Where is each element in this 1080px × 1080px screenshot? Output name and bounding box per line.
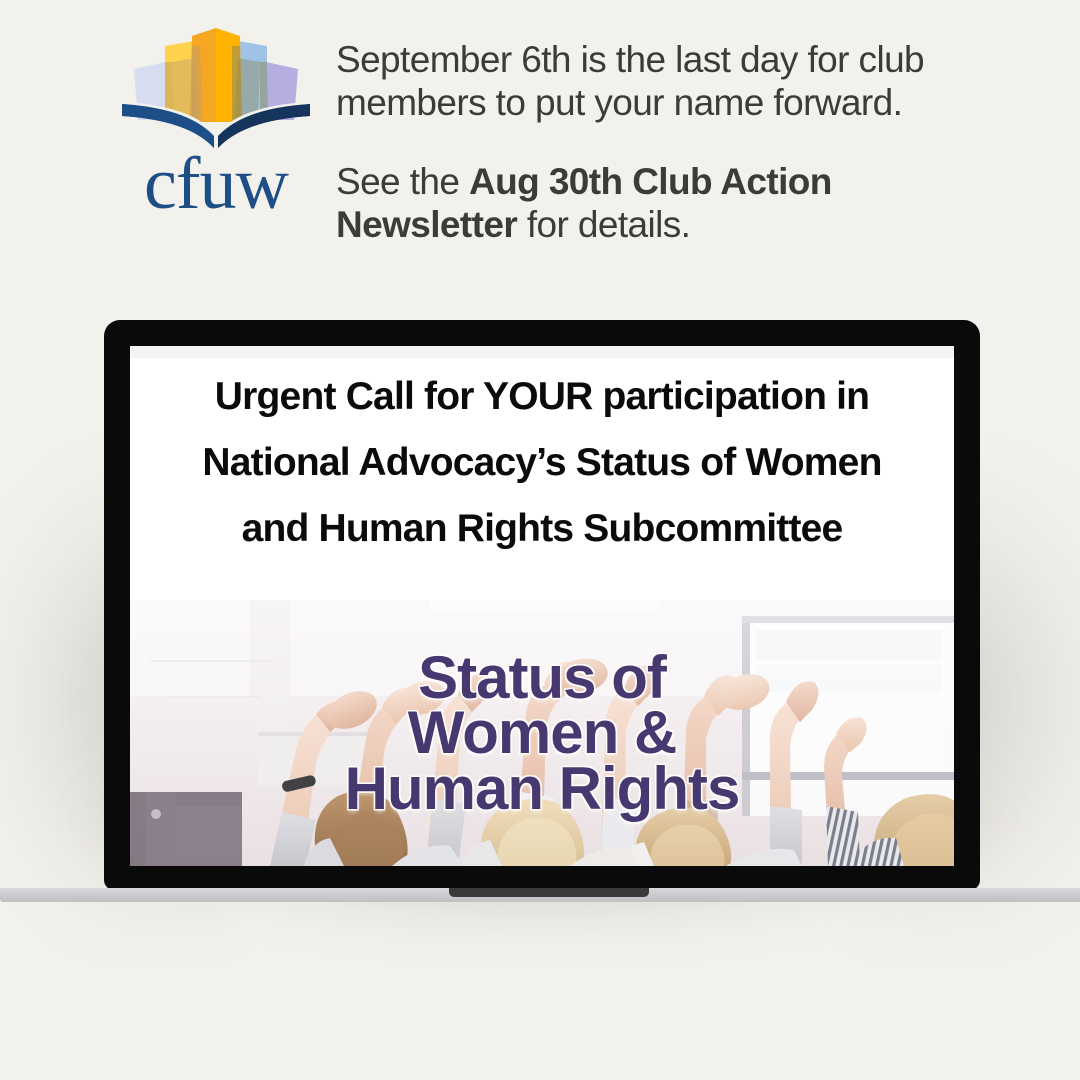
cfuw-open-book-fan-logo — [118, 24, 314, 149]
headline-line-4: Newsletter for details. — [336, 203, 956, 246]
laptop-bezel: Urgent Call for YOUR participation in Na… — [104, 320, 980, 890]
screen-top-strip — [130, 346, 954, 358]
laptop-mockup: Urgent Call for YOUR participation in Na… — [104, 320, 980, 905]
laptop-screen: Urgent Call for YOUR participation in Na… — [130, 346, 954, 866]
screen-photo: Status of Women & Human Rights — [130, 600, 954, 866]
headline-line-1: September 6th is the last day for club — [336, 38, 956, 81]
headline-block: September 6th is the last day for club m… — [336, 38, 956, 246]
laptop-base-notch — [449, 888, 649, 897]
screen-title-line-2: National Advocacy’s Status of Women — [144, 430, 940, 496]
photo-overlay-text: Status of Women & Human Rights — [130, 600, 954, 866]
header-banner: cfuw September 6th is the last day for c… — [0, 0, 1080, 300]
newsletter-name-part2: Newsletter — [336, 204, 517, 245]
cfuw-logo: cfuw — [118, 24, 314, 224]
cfuw-wordmark: cfuw — [118, 142, 314, 226]
screen-title-line-1: Urgent Call for YOUR participation in — [144, 364, 940, 430]
headline-deadline: September 6th is the last day for club m… — [336, 38, 956, 124]
overlay-line-2: Women & — [408, 703, 677, 762]
see-the-text: See the — [336, 161, 469, 202]
overlay-line-3: Human Rights — [345, 759, 740, 818]
headline-line-2: members to put your name forward. — [336, 81, 956, 124]
headline-newsletter: See the Aug 30th Club Action Newsletter … — [336, 160, 956, 246]
newsletter-name-part1: Aug 30th Club Action — [469, 161, 832, 202]
screen-title-line-3: and Human Rights Subcommittee — [144, 496, 940, 562]
for-details-text: for details. — [517, 204, 690, 245]
headline-line-3: See the Aug 30th Club Action — [336, 160, 956, 203]
screen-title-block: Urgent Call for YOUR participation in Na… — [130, 364, 954, 562]
